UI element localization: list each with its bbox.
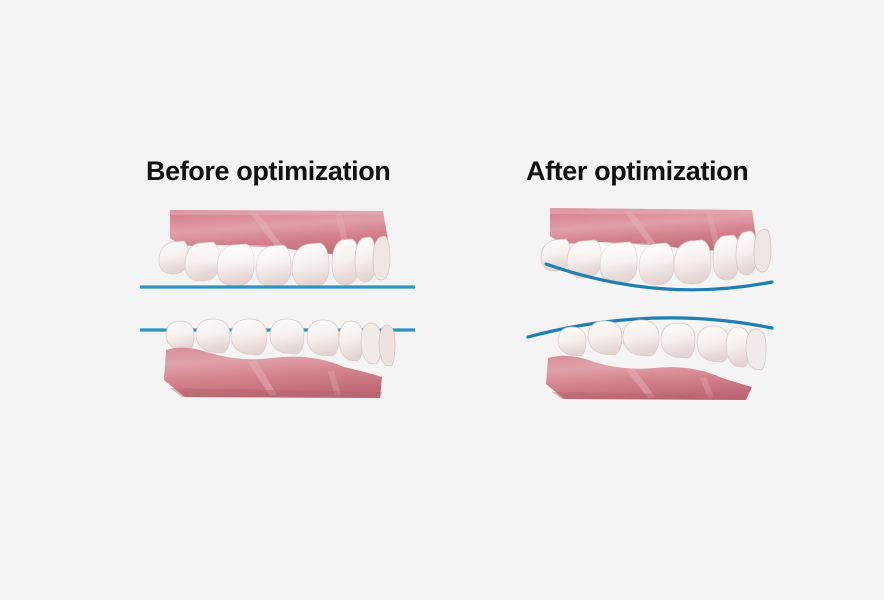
illustration-after-optimization — [520, 200, 820, 415]
tooth-upper-5 — [292, 243, 329, 288]
tooth-lower-2 — [196, 319, 230, 353]
gum-bevel — [170, 210, 383, 215]
tooth-lower-8 — [379, 325, 395, 366]
tooth-upper-8 — [754, 229, 771, 272]
enamel-sheen — [574, 243, 690, 269]
tooth-upper-1 — [159, 241, 189, 274]
illustration-before-optimization — [130, 200, 430, 415]
tooth-lower-5 — [307, 320, 339, 356]
tooth-lower-1 — [558, 327, 586, 356]
figure-canvas: Before optimization After optimization — [0, 0, 884, 600]
tooth-lower-4 — [270, 319, 304, 354]
tooth-lower-7 — [361, 323, 381, 364]
tooth-upper-8 — [373, 236, 390, 280]
tooth-lower-3 — [623, 320, 659, 356]
lower-arch-after — [546, 320, 766, 400]
panel-label-before: Before optimization — [146, 156, 390, 187]
enamel-sheen — [192, 245, 308, 271]
panel-label-after: After optimization — [526, 156, 748, 187]
tooth-lower-3 — [231, 319, 267, 355]
tooth-lower-2 — [588, 321, 622, 355]
gum-bevel — [550, 208, 752, 214]
tooth-lower-5 — [697, 326, 729, 362]
tooth-lower-1 — [166, 321, 194, 351]
tooth-lower-6 — [339, 321, 363, 361]
tooth-lower-4 — [661, 323, 695, 358]
tooth-lower-7 — [746, 329, 766, 370]
upper-arch-before — [159, 210, 390, 288]
lower-arch-before — [164, 319, 395, 398]
